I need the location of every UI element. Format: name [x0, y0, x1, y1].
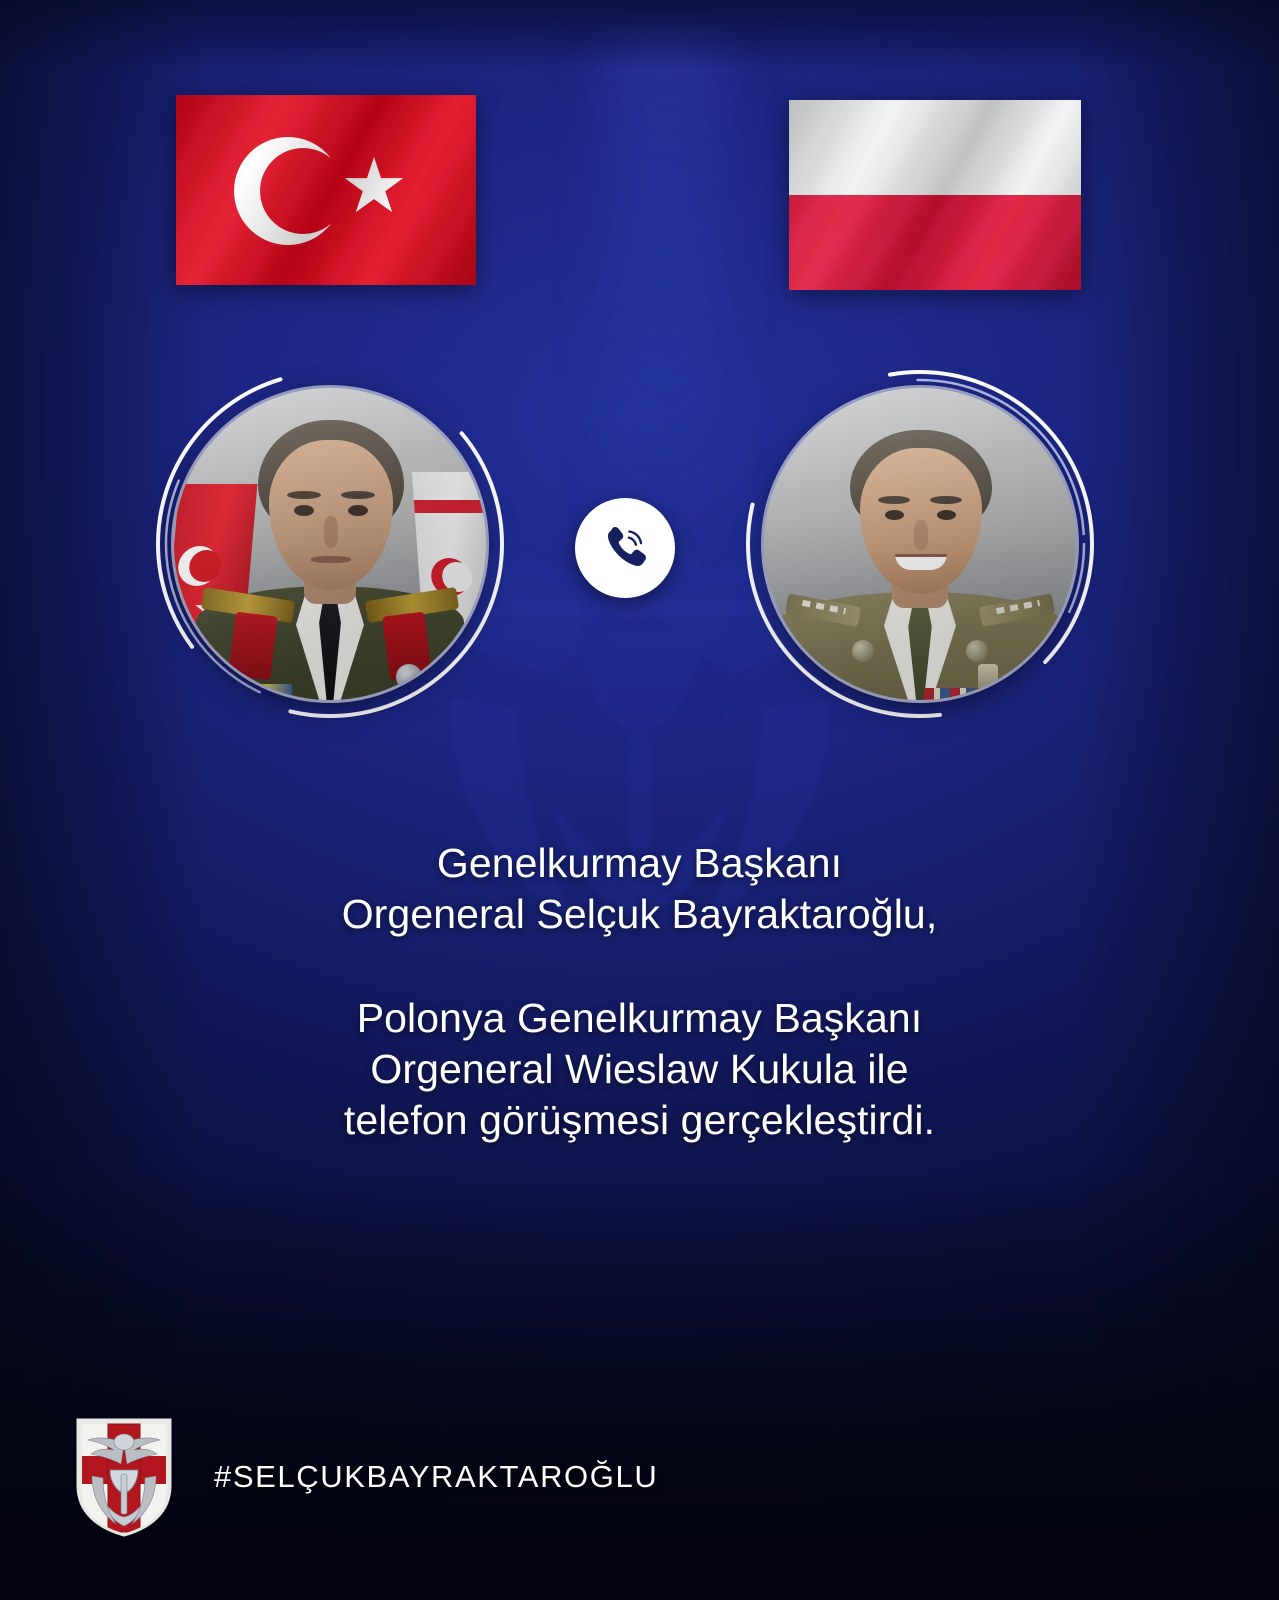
portrait-polish-chief: [742, 366, 1098, 722]
copy-block-1: Genelkurmay Başkanı Orgeneral Selçuk Bay…: [0, 838, 1279, 940]
copy-line: Orgeneral Selçuk Bayraktaroğlu,: [0, 889, 1279, 940]
phone-call-icon: [575, 498, 675, 598]
poland-flag-white-band: [789, 100, 1081, 195]
turkey-flag: [176, 95, 476, 285]
poster-canvas: Genelkurmay Başkanı Orgeneral Selçuk Bay…: [0, 0, 1279, 1600]
copy-line: Orgeneral Wieslaw Kukula ile: [0, 1044, 1279, 1095]
portrait-turkish-chief: [152, 366, 508, 722]
footer: #SELÇUKBAYRAKTAROĞLU: [74, 1416, 658, 1538]
copy-block-2: Polonya Genelkurmay Başkanı Orgeneral Wi…: [0, 993, 1279, 1146]
copy-line: telefon görüşmesi gerçekleştirdi.: [0, 1095, 1279, 1146]
hashtag-label: #SELÇUKBAYRAKTAROĞLU: [214, 1459, 658, 1495]
photo-light-sheen: [764, 388, 1076, 700]
star-icon: [344, 157, 404, 217]
poland-flag: [789, 100, 1081, 290]
copy-line: Polonya Genelkurmay Başkanı: [0, 993, 1279, 1044]
tsk-general-staff-emblem: [74, 1416, 174, 1538]
photo-light-sheen: [174, 388, 486, 700]
portrait-photo: [764, 388, 1076, 700]
headline-copy: Genelkurmay Başkanı Orgeneral Selçuk Bay…: [0, 838, 1279, 1146]
copy-line: Genelkurmay Başkanı: [0, 838, 1279, 889]
crescent-icon: [234, 137, 342, 245]
poland-flag-red-band: [789, 195, 1081, 290]
portrait-photo: [174, 388, 486, 700]
